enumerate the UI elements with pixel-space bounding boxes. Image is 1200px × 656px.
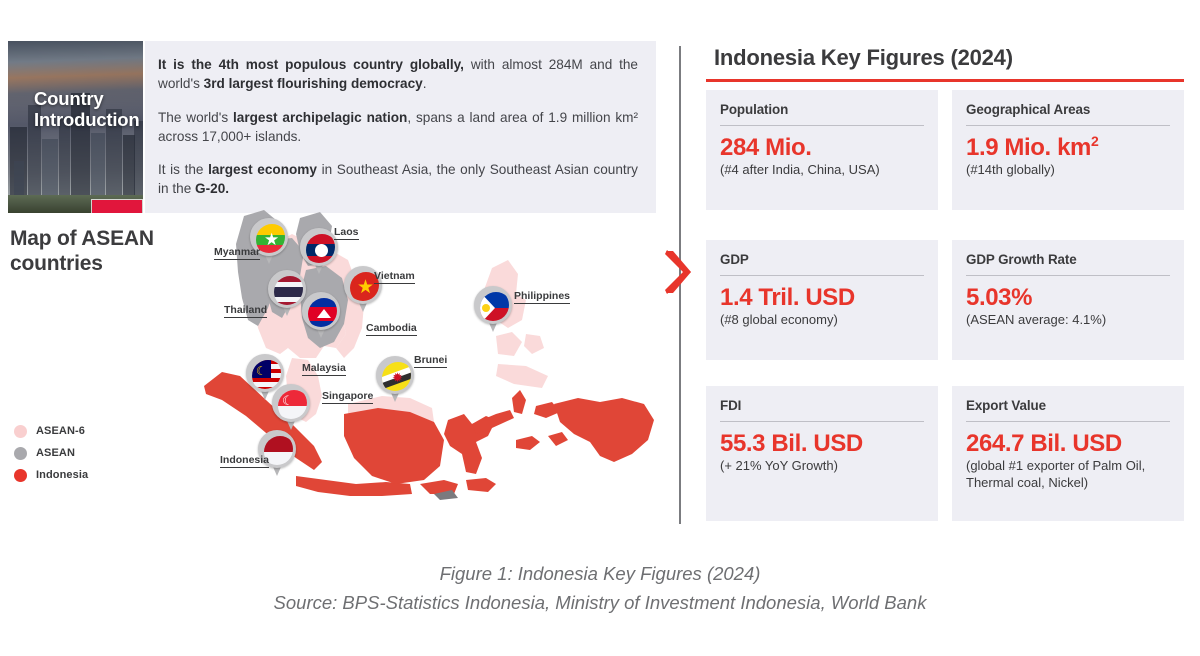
legend-swatch-icon (14, 469, 27, 482)
map-legend: ASEAN-6ASEANIndonesia (14, 420, 88, 486)
map-title: Map of ASEAN countries (10, 226, 220, 276)
map-label-myanmar: Myanmar (214, 246, 260, 260)
card-divider (720, 421, 924, 422)
legend-label: Indonesia (36, 469, 88, 481)
card-title: Geographical Areas (966, 102, 1170, 117)
card-divider (720, 125, 924, 126)
card-value-text: 264.7 Bil. USD (966, 430, 1122, 457)
card-subtext: (#8 global economy) (720, 312, 924, 329)
card-value: 1.4 Tril. USD (720, 285, 924, 310)
key-figure-card-gdp-growth-rate: GDP Growth Rate5.03%(ASEAN average: 4.1%… (952, 240, 1184, 360)
card-divider (720, 275, 924, 276)
key-figures-card-grid: Population284 Mio.(#4 after India, China… (706, 90, 1184, 515)
card-value-text: 55.3 Bil. USD (720, 430, 863, 457)
map-pin-philippines[interactable] (474, 286, 512, 334)
map-label-brunei: Brunei (414, 354, 447, 368)
card-title: FDI (720, 398, 924, 413)
card-value-text: 1.4 Tril. USD (720, 284, 855, 311)
card-value-text: 284 Mio. (720, 134, 812, 161)
intro-paragraph-1: It is the 4th most populous country glob… (158, 55, 638, 94)
card-subtext: (#14th globally) (966, 162, 1170, 179)
map-pin-thailand[interactable] (268, 270, 306, 318)
legend-item-asean: ASEAN (14, 442, 88, 464)
intro-paragraph-3: It is the largest economy in Southeast A… (158, 160, 638, 199)
indonesia-flag-icon (91, 199, 143, 213)
key-figure-card-fdi: FDI55.3 Bil. USD(+ 21% YoY Growth) (706, 386, 938, 521)
key-figure-card-population: Population284 Mio.(#4 after India, China… (706, 90, 938, 210)
map-label-thailand: Thailand (224, 304, 267, 318)
legend-item-indonesia: Indonesia (14, 464, 88, 486)
country-introduction-image: CountryIntroduction (8, 41, 143, 213)
map-pin-laos[interactable] (300, 228, 338, 276)
card-divider (966, 125, 1170, 126)
intro-paragraph-2: The world's largest archipelagic nation,… (158, 108, 638, 147)
card-value-text: 1.9 Mio. km (966, 134, 1091, 161)
card-divider (966, 421, 1170, 422)
card-subtext: (global #1 exporter of Palm Oil, Thermal… (966, 458, 1170, 491)
key-figures-title: Indonesia Key Figures (2024) (714, 45, 1184, 71)
card-subtext: (ASEAN average: 4.1%) (966, 312, 1170, 329)
card-title: GDP Growth Rate (966, 252, 1170, 267)
card-value: 1.9 Mio. km2 (966, 135, 1170, 160)
figure-caption: Figure 1: Indonesia Key Figures (2024) S… (0, 560, 1200, 617)
map-label-malaysia: Malaysia (302, 362, 346, 376)
map-pin-cambodia[interactable] (302, 292, 340, 340)
card-value-superscript: 2 (1091, 133, 1098, 149)
card-value-text: 5.03% (966, 284, 1032, 311)
country-introduction-text: It is the 4th most populous country glob… (145, 41, 656, 213)
map-label-singapore: Singapore (322, 390, 373, 404)
key-figure-card-export-value: Export Value264.7 Bil. USD(global #1 exp… (952, 386, 1184, 521)
map-label-indonesia: Indonesia (220, 454, 269, 468)
card-title: GDP (720, 252, 924, 267)
caption-line-1: Figure 1: Indonesia Key Figures (2024) (0, 560, 1200, 589)
card-value: 5.03% (966, 285, 1170, 310)
legend-item-asean-6: ASEAN-6 (14, 420, 88, 442)
infographic-root: CountryIntroduction It is the 4th most p… (0, 0, 1200, 656)
key-figure-card-geographical-areas: Geographical Areas1.9 Mio. km2(#14th glo… (952, 90, 1184, 210)
map-pin-singapore[interactable]: ☾ (272, 384, 310, 432)
legend-label: ASEAN (36, 447, 75, 459)
caption-line-2: Source: BPS-Statistics Indonesia, Minist… (0, 589, 1200, 618)
card-title: Population (720, 102, 924, 117)
card-value: 264.7 Bil. USD (966, 431, 1170, 456)
map-label-cambodia: Cambodia (366, 322, 417, 336)
card-title: Export Value (966, 398, 1170, 413)
key-figures-underline (706, 79, 1184, 82)
card-subtext: (+ 21% YoY Growth) (720, 458, 924, 475)
map-label-philippines: Philippines (514, 290, 570, 304)
card-divider (966, 275, 1170, 276)
asean-map: ★ (196, 208, 666, 518)
legend-swatch-icon (14, 447, 27, 460)
map-pin-brunei[interactable]: ✹ (376, 356, 414, 404)
map-label-vietnam: Vietnam (374, 270, 415, 284)
map-label-laos: Laos (334, 226, 359, 240)
country-introduction-title-line-1: Introduction (34, 110, 143, 131)
legend-swatch-icon (14, 425, 27, 438)
card-value: 55.3 Bil. USD (720, 431, 924, 456)
card-subtext: (#4 after India, China, USA) (720, 162, 924, 179)
key-figure-card-gdp: GDP1.4 Tril. USD(#8 global economy) (706, 240, 938, 360)
chevron-right-icon (663, 248, 693, 296)
country-introduction-title-line-0: Country (34, 89, 143, 110)
legend-label: ASEAN-6 (36, 425, 85, 437)
card-value: 284 Mio. (720, 135, 924, 160)
country-introduction-title: CountryIntroduction (34, 89, 143, 130)
